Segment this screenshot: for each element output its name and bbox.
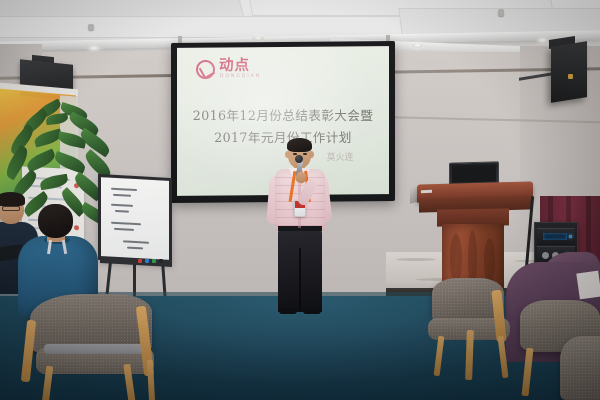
presenter-ear <box>309 151 314 158</box>
presenter-ear <box>285 151 290 158</box>
handout-paper <box>576 271 600 300</box>
speaker-logo-icon <box>568 74 573 79</box>
presenter-shoe <box>279 308 297 314</box>
chair-back-strap <box>44 344 144 354</box>
chair-backrest <box>560 336 600 400</box>
downlight-icon <box>88 46 100 51</box>
glasses-icon <box>2 206 20 211</box>
downlight-icon <box>412 43 423 48</box>
lectern-nameplate <box>421 190 432 194</box>
downlight-icon <box>537 38 548 43</box>
presenter-shoe <box>303 308 321 314</box>
presenter-eye <box>303 153 307 155</box>
sprinkler-icon <box>88 24 94 30</box>
microphone-head-icon <box>295 155 303 163</box>
flipchart-whiteboard <box>98 174 172 264</box>
presenter-hair <box>287 138 312 152</box>
laptop-screen <box>452 164 496 182</box>
conference-room-photo: 动点 DONGDIAN 2016年12月份总结表彰大会暨 2017年元月份工作计… <box>0 0 600 400</box>
marker-icon <box>152 259 156 263</box>
attendee-head <box>38 204 73 238</box>
presenter-trousers-seam <box>299 248 301 312</box>
marker-icon <box>138 259 142 263</box>
wall-speaker-right <box>551 41 587 103</box>
marker-icon <box>159 259 163 263</box>
sprinkler-icon <box>498 9 504 16</box>
rack-unit[interactable] <box>537 228 575 245</box>
attendee-hair <box>0 192 25 206</box>
downlight-icon <box>252 36 264 41</box>
marker-icon <box>145 259 149 263</box>
